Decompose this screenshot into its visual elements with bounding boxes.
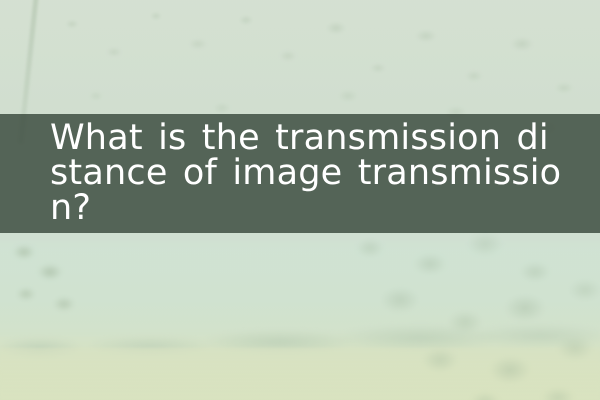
question-cover-image: What is the transmission distance of ima… <box>0 0 600 400</box>
question-title: What is the transmission distance of ima… <box>0 121 600 226</box>
caption-band: What is the transmission distance of ima… <box>0 114 600 233</box>
